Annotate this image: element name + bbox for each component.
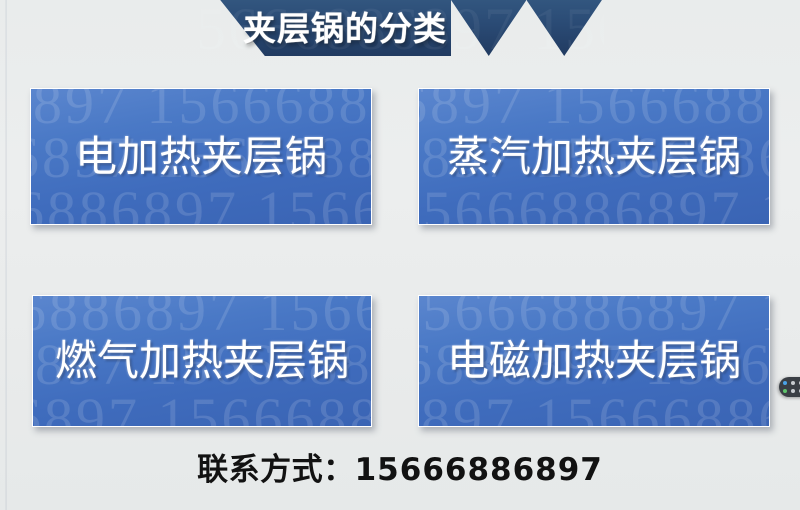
video-player-controls-widget[interactable]	[779, 377, 800, 397]
player-dot-icon[interactable]	[791, 389, 795, 393]
presentation-slide: 5666886897 156 夹层锅的分类 8897 15666886897 1…	[0, 0, 800, 510]
category-box-electric-heating[interactable]: 8897 15666886897 1566 886897 1566688689 …	[30, 88, 372, 225]
contact-line: 联系方式：15666886897	[0, 444, 800, 489]
category-label: 燃气加热夹层锅	[33, 339, 371, 383]
watermark-row: 97 15666886897 15	[418, 295, 770, 338]
category-label: 电磁加热夹层锅	[419, 339, 769, 383]
watermark-row: 8897 15666886897 1566	[418, 392, 770, 427]
category-box-induction-heating[interactable]: 97 15666886897 15 66886897 156668 8897 1…	[418, 295, 770, 427]
watermark-row: 66886897 156668	[30, 185, 372, 225]
contact-label: 联系方式：	[197, 452, 355, 488]
player-dot-icon[interactable]	[791, 381, 795, 385]
category-label: 电加热夹层锅	[31, 134, 371, 178]
watermark-row: 66886897 156668	[32, 295, 372, 338]
page-title: 夹层锅的分类	[196, 2, 604, 50]
watermark-row: 8897 15666886897 1566	[30, 88, 372, 131]
background-seam-left-2	[6, 0, 7, 510]
category-box-steam-heating[interactable]: 886897 1566688689 8897 15666886897 1566 …	[418, 88, 770, 225]
watermark-row: 886897 1566688689	[32, 392, 372, 427]
watermark-row: 886897 1566688689	[418, 88, 770, 131]
player-dot-icon[interactable]	[783, 381, 787, 385]
player-dot-icon[interactable]	[783, 389, 787, 393]
title-banner: 5666886897 156 夹层锅的分类	[196, 0, 604, 56]
category-label: 蒸汽加热夹层锅	[419, 134, 769, 178]
category-box-gas-heating[interactable]: 66886897 156668 8897 15666886897 1566 88…	[32, 295, 372, 427]
watermark-row: 97 15666886897 15	[418, 185, 770, 225]
contact-phone-number: 15666886897	[355, 452, 603, 488]
